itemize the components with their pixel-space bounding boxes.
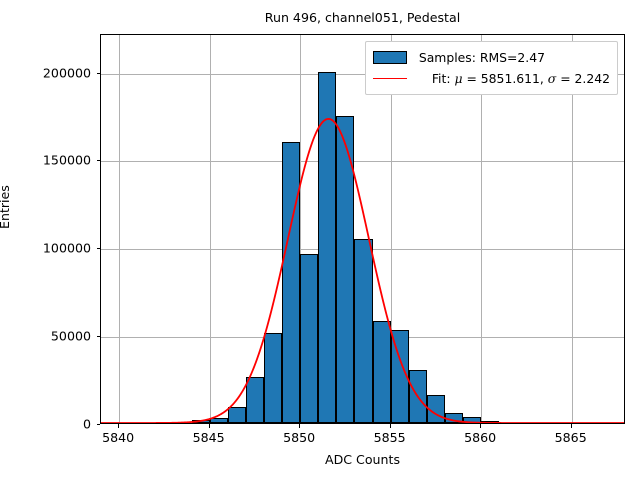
y-axis-label: Entries [0,185,12,229]
x-tick-label: 5865 [555,430,587,445]
legend-patch-icon [372,47,410,68]
y-tick-mark [97,336,101,337]
pedestal-histogram-figure: Run 496, channel051, Pedestal Samples: R… [0,0,640,480]
x-tick-mark [209,424,210,428]
legend-sigma-symbol: σ [548,71,556,86]
x-tick-mark [299,424,300,428]
x-tick-mark [118,424,119,428]
x-tick-label: 5845 [193,430,225,445]
y-tick-label: 0 [0,417,91,432]
y-tick-label: 50000 [0,329,91,344]
x-tick-label: 5840 [102,430,134,445]
y-tick-mark [97,73,101,74]
x-tick-label: 5855 [374,430,406,445]
legend: Samples: RMS=2.47 Fit: μ = 5851.611, σ =… [365,41,618,95]
legend-item-samples: Samples: RMS=2.47 [372,47,610,68]
x-tick-mark [390,424,391,428]
x-tick-label: 5850 [283,430,315,445]
y-tick-mark [97,160,101,161]
x-axis-label: ADC Counts [100,452,625,467]
legend-label-samples: Samples: RMS=2.47 [419,50,545,65]
y-tick-label: 100000 [0,241,91,256]
page-title: Run 496, channel051, Pedestal [100,10,625,26]
legend-sigma-value: = 2.242 [556,71,610,86]
legend-label-fit: Fit: μ = 5851.611, σ = 2.242 [419,71,610,86]
y-tick-mark [97,248,101,249]
y-tick-mark [97,424,101,425]
x-tick-mark [571,424,572,428]
y-tick-label: 200000 [0,65,91,80]
y-tick-label: 150000 [0,153,91,168]
plot-area: Samples: RMS=2.47 Fit: μ = 5851.611, σ =… [100,34,625,424]
legend-line-icon [372,68,410,89]
x-tick-mark [480,424,481,428]
x-tick-label: 5860 [464,430,496,445]
legend-item-fit: Fit: μ = 5851.611, σ = 2.242 [372,68,610,89]
legend-mu-value: = 5851.611, [463,71,548,86]
legend-mu-symbol: μ [454,71,462,86]
legend-fit-prefix: Fit: [432,71,455,86]
